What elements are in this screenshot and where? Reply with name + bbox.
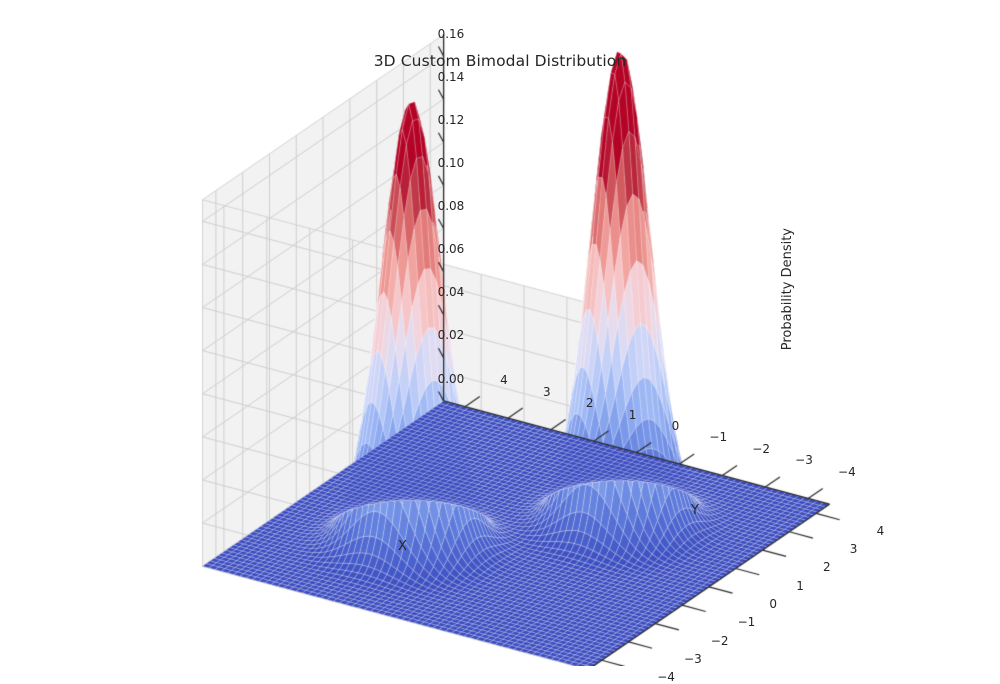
figure-3d-surface-plot: 3D Custom Bimodal Distribution X Y Proba… xyxy=(0,0,1000,666)
x-tick-8: 4 xyxy=(877,524,885,538)
z-tick-8: 0.16 xyxy=(438,27,465,41)
y-tick-5: 1 xyxy=(629,408,637,422)
z-tick-2: 0.04 xyxy=(438,285,465,299)
y-tick-3: −1 xyxy=(709,430,727,444)
y-tick-2: −2 xyxy=(752,442,770,456)
x-tick-2: −2 xyxy=(711,634,729,648)
y-tick-6: 2 xyxy=(586,396,594,410)
surface-plot-canvas xyxy=(0,0,1000,666)
page-title: 3D Custom Bimodal Distribution xyxy=(0,52,1000,70)
y-tick-0: −4 xyxy=(838,465,856,479)
z-tick-5: 0.10 xyxy=(438,156,465,170)
z-tick-6: 0.12 xyxy=(438,113,465,127)
x-tick-3: −1 xyxy=(738,615,756,629)
x-tick-5: 1 xyxy=(796,579,804,593)
x-tick-6: 2 xyxy=(823,560,831,574)
z-tick-3: 0.06 xyxy=(438,242,465,256)
z-tick-0: 0.00 xyxy=(438,372,465,386)
x-tick-4: 0 xyxy=(769,597,777,611)
y-tick-7: 3 xyxy=(543,385,551,399)
z-tick-4: 0.08 xyxy=(438,199,465,213)
z-axis-label: Probability Density xyxy=(780,228,795,350)
y-tick-4: 0 xyxy=(672,419,680,433)
z-tick-7: 0.14 xyxy=(438,70,465,84)
x-axis-label: X xyxy=(398,539,407,554)
x-tick-0: −4 xyxy=(657,670,675,684)
x-tick-7: 3 xyxy=(850,542,858,556)
z-tick-1: 0.02 xyxy=(438,328,465,342)
y-axis-label: Y xyxy=(691,503,699,518)
y-tick-8: 4 xyxy=(500,373,508,387)
x-tick-1: −3 xyxy=(684,652,702,666)
y-tick-1: −3 xyxy=(795,453,813,467)
